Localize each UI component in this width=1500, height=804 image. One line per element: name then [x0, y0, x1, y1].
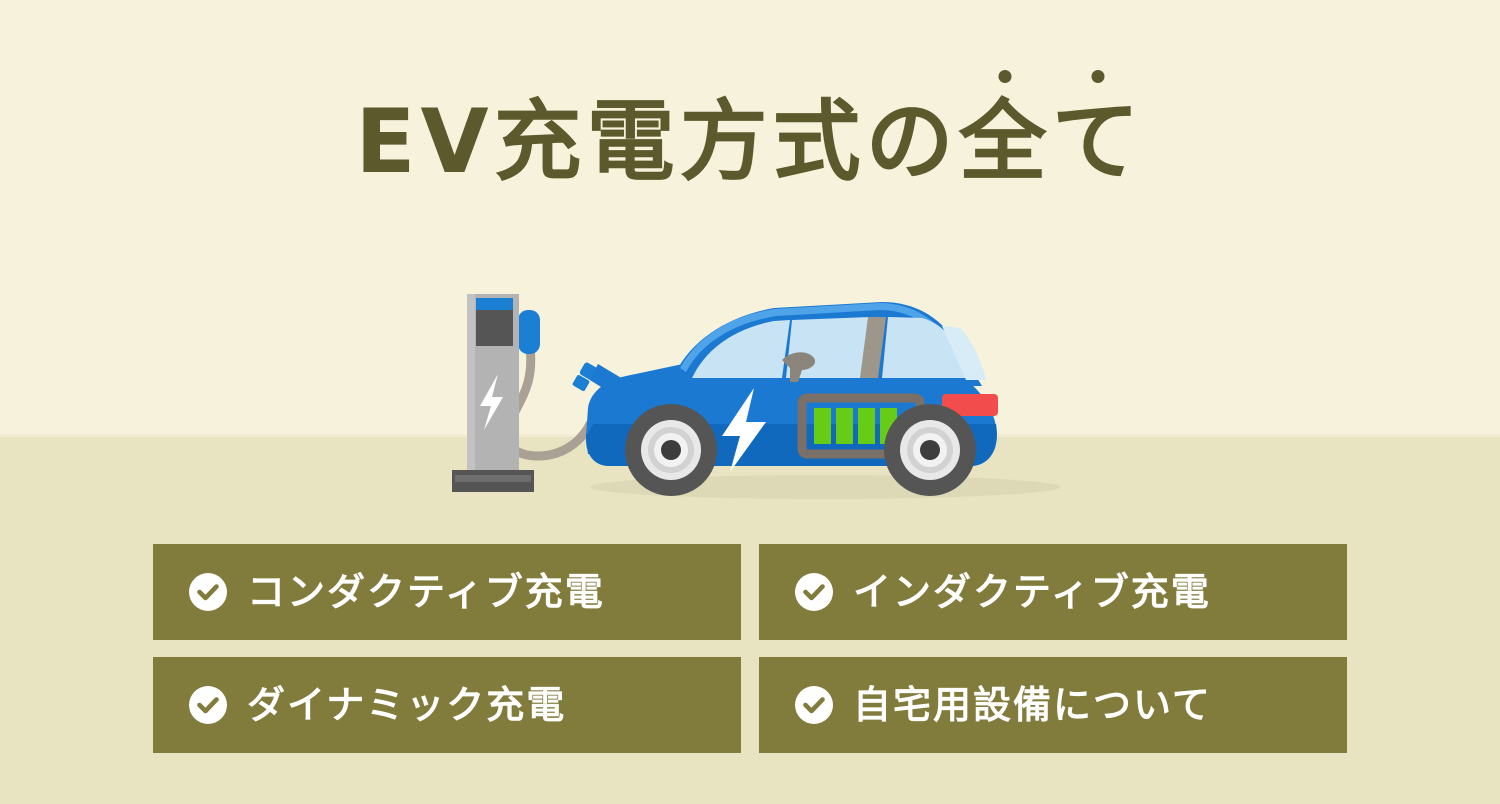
topic-button-inductive[interactable]: インダクティブ充電	[759, 544, 1347, 640]
topic-button-label: 自宅用設備について	[853, 686, 1212, 724]
title-segment-emphasis-1: 全	[959, 96, 1052, 188]
topic-button-dynamic[interactable]: ダイナミック充電	[153, 657, 741, 753]
car-front-bumper	[586, 434, 606, 454]
title-segment-emphasis-2: て	[1052, 96, 1145, 188]
car-front-wheel	[625, 404, 717, 496]
check-circle-icon	[795, 573, 833, 611]
check-circle-icon	[189, 573, 227, 611]
title-segment-plain: EV充電方式の	[355, 90, 958, 193]
topic-button-label: コンダクティブ充電	[247, 573, 605, 611]
charger-nozzle	[518, 310, 540, 354]
car-rear-wheel	[884, 404, 976, 496]
page-title: EV充電方式の全て	[0, 96, 1500, 188]
page-title-text: EV充電方式の全て	[355, 96, 1144, 188]
topic-button-home-equipment[interactable]: 自宅用設備について	[759, 657, 1347, 753]
topic-button-label: インダクティブ充電	[853, 573, 1211, 611]
charger-base-highlight	[455, 475, 531, 482]
charger-body-highlight	[467, 294, 475, 470]
charger-screen-top-strip	[476, 298, 513, 310]
topic-button-grid: コンダクティブ充電 インダクティブ充電 ダイナミック充電 自宅用設備について	[153, 544, 1349, 753]
battery-bar	[858, 408, 875, 444]
topic-button-conductive[interactable]: コンダクティブ充電	[153, 544, 741, 640]
charging-station	[452, 294, 590, 492]
check-circle-icon	[189, 686, 227, 724]
battery-bar	[814, 408, 831, 444]
electric-car	[572, 302, 998, 496]
check-circle-icon	[795, 686, 833, 724]
ev-car-charging-illustration	[430, 276, 1090, 508]
poster-canvas: EV充電方式の全て	[0, 0, 1500, 804]
topic-button-label: ダイナミック充電	[247, 686, 566, 724]
battery-bar	[836, 408, 853, 444]
charging-cable	[507, 346, 590, 456]
